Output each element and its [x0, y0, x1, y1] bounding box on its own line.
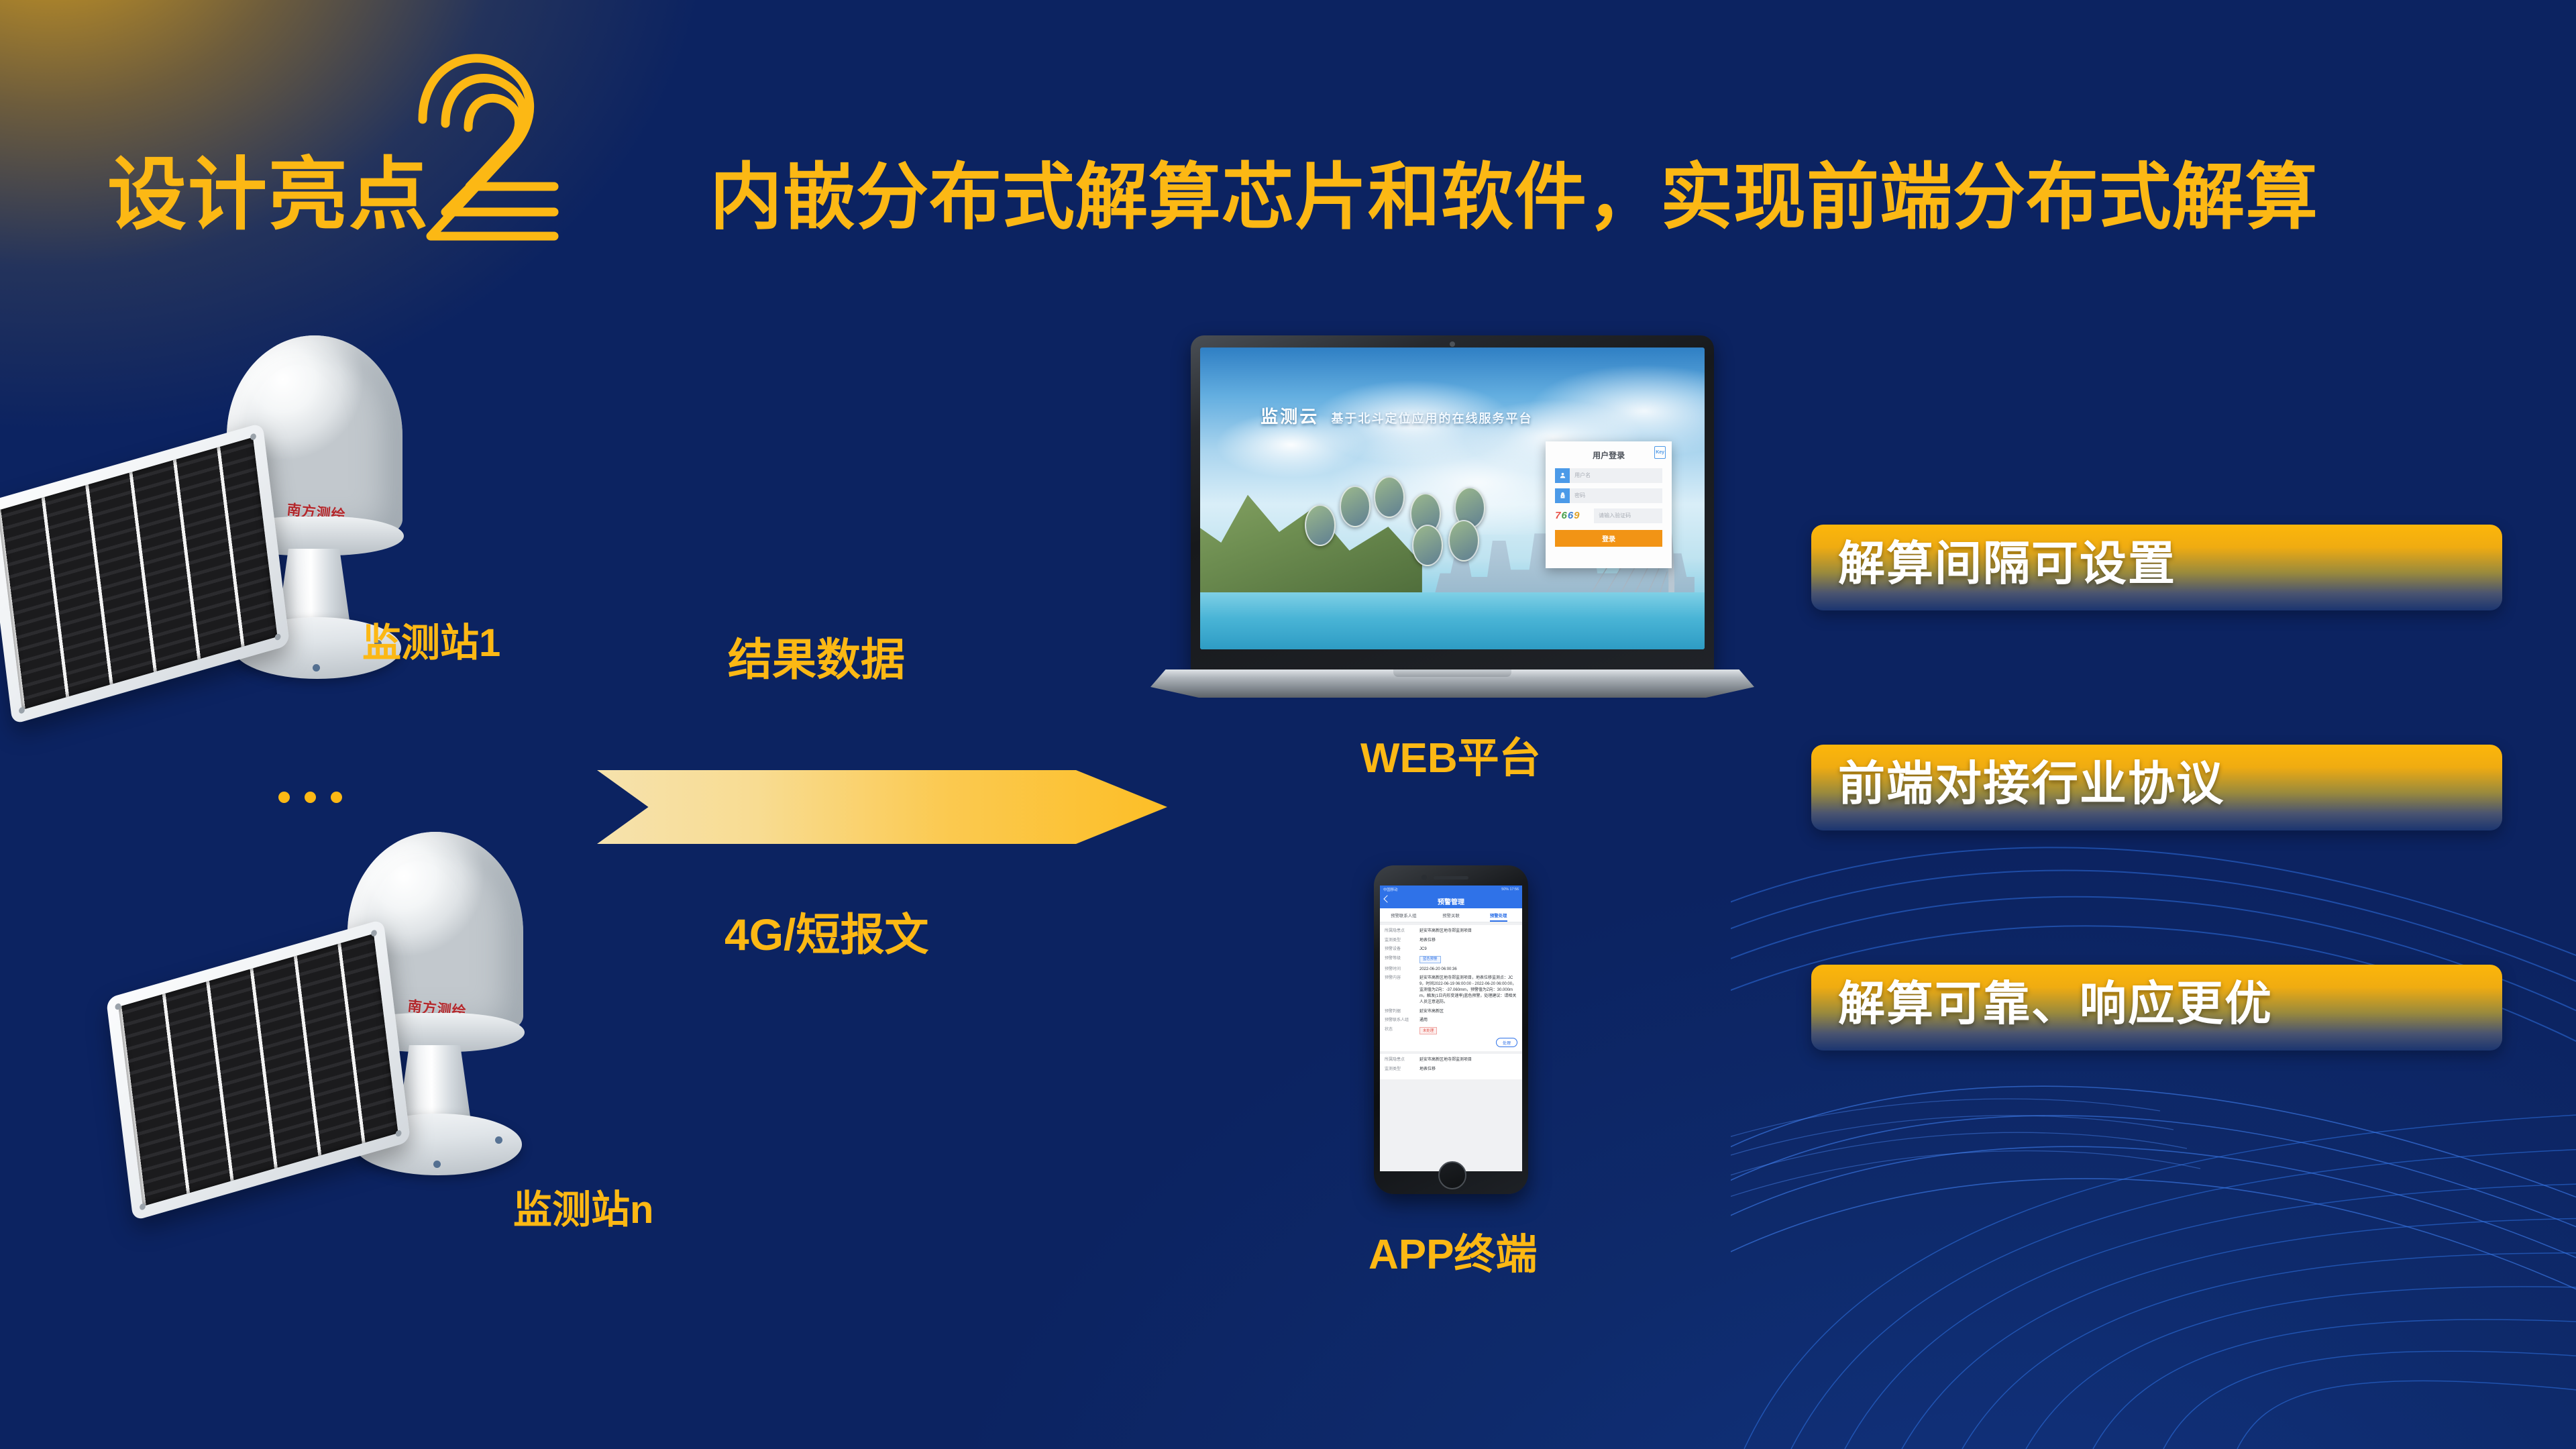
gnss-station-n: 南方测绘 让测绘更有价值 — [114, 832, 610, 1248]
solar-panel — [106, 919, 411, 1221]
ellipsis-dots — [278, 792, 342, 803]
phone-device: 中国移动 50% 17:56 预警管理 预警联系人组 预警关联 预警处理 所属隐… — [1374, 865, 1528, 1194]
web-brand-subtitle: 基于北斗定位应用的在线服务平台 — [1332, 409, 1533, 427]
back-arrow-icon[interactable] — [1383, 895, 1391, 902]
login-submit-button[interactable]: 登录 — [1555, 530, 1662, 547]
alarm-record-card: 所属隐患点延安市高新区地寺郑监测项目 监测类型地表位移 预警设备JC9 预警等级… — [1380, 925, 1522, 1051]
captcha-input[interactable]: 请输入验证码 — [1594, 508, 1662, 523]
table-row: 预警设备JC9 — [1385, 947, 1517, 953]
login-title: 用户登录 — [1555, 449, 1662, 461]
status-right: 50% 17:56 — [1501, 888, 1519, 892]
web-platform-screen: 监测云 基于北斗定位应用的在线服务平台 Key 用户登录 — [1200, 347, 1705, 649]
table-row: 预警等级蓝色预警 — [1385, 956, 1517, 964]
station-n-label: 监测站n — [513, 1191, 653, 1230]
captcha-row[interactable]: 7669 请输入验证码 — [1555, 508, 1662, 523]
captcha-image[interactable]: 7669 — [1555, 510, 1590, 521]
webcam-icon — [1450, 341, 1455, 347]
phone-camera-icon — [1421, 875, 1427, 880]
slide-canvas: 设计亮点 内嵌分布式解算芯片和软件，实现前端分布式解算 南方测绘 让测绘更有价值 — [0, 0, 2576, 1449]
password-placeholder: 密码 — [1570, 492, 1585, 499]
table-row: 预警联系人组通用 — [1385, 1018, 1517, 1024]
app-terminal-label: APP终端 — [1368, 1234, 1537, 1276]
username-field[interactable]: 用户名 — [1555, 468, 1662, 483]
password-field[interactable]: 密码 — [1555, 488, 1662, 503]
feature-badge-1-label: 解算间隔可设置 — [1811, 540, 2176, 587]
app-nav-bar: 预警管理 — [1380, 894, 1522, 908]
table-row: 预警判据延安市高新区 — [1385, 1009, 1517, 1015]
decorative-swirl-lines — [1731, 738, 2576, 1449]
slide-number-2-icon — [411, 40, 585, 262]
feature-badge-3-label: 解算可靠、响应更优 — [1811, 980, 2273, 1027]
table-row: 所属隐患点延安市高新区地寺郑监测项目 — [1385, 928, 1517, 934]
feature-thumbnails — [1301, 468, 1503, 547]
table-row: 预警时间2022-06-20 06:00:36 — [1385, 967, 1517, 973]
gnss-station-1: 南方测绘 让测绘更有价值 — [0, 335, 490, 751]
status-badge: 未处理 — [1419, 1027, 1437, 1035]
web-platform-label: WEB平台 — [1360, 738, 1541, 780]
feature-badge-1: 解算间隔可设置 — [1811, 525, 2502, 610]
key-icon: Key — [1654, 446, 1666, 459]
table-row: 预警内容延安市高新区地寺郑监测项目，地表位移监测点：JC9，时间2022-06-… — [1385, 975, 1517, 1006]
flow-label-transport: 4G/短报文 — [724, 912, 928, 957]
home-button[interactable] — [1438, 1161, 1466, 1189]
app-screen: 中国移动 50% 17:56 预警管理 预警联系人组 预警关联 预警处理 所属隐… — [1380, 885, 1522, 1171]
slide-kicker: 设计亮点 — [107, 156, 429, 235]
app-tab-bar: 预警联系人组 预警关联 预警处理 — [1380, 908, 1522, 922]
table-row: 监测类型地表位移 — [1385, 1067, 1517, 1073]
flow-arrow — [597, 770, 1167, 844]
table-row: 监测类型地表位移 — [1385, 938, 1517, 944]
phone-speaker — [1434, 876, 1468, 879]
table-row: 所属隐患点延安市高新区地寺郑监测项目 — [1385, 1057, 1517, 1063]
app-content[interactable]: 所属隐患点延安市高新区地寺郑监测项目 监测类型地表位移 预警设备JC9 预警等级… — [1380, 922, 1522, 1171]
laptop-lid: 监测云 基于北斗定位应用的在线服务平台 Key 用户登录 — [1191, 335, 1714, 672]
slide-headline: 内嵌分布式解算芯片和软件，实现前端分布式解算 — [710, 161, 2318, 233]
tab-alarm-relation[interactable]: 预警关联 — [1428, 912, 1475, 918]
laptop-device: 监测云 基于北斗定位应用的在线服务平台 Key 用户登录 — [1150, 335, 1754, 724]
feature-badge-2-label: 前端对接行业协议 — [1811, 760, 2224, 807]
web-brand: 监测云 — [1260, 403, 1319, 428]
solar-panel — [0, 423, 290, 724]
water-graphic — [1200, 592, 1705, 650]
phone-status-bar: 中国移动 50% 17:56 — [1380, 885, 1522, 894]
tab-contact-group[interactable]: 预警联系人组 — [1380, 912, 1428, 918]
user-icon — [1555, 468, 1570, 483]
status-badge: 蓝色预警 — [1419, 956, 1441, 964]
alarm-record-card: 所属隐患点延安市高新区地寺郑监测项目 监测类型地表位移 — [1380, 1054, 1522, 1079]
username-placeholder: 用户名 — [1570, 472, 1591, 479]
lock-icon — [1555, 488, 1570, 503]
solar-cells — [0, 437, 278, 710]
table-row: 状态未处理 — [1385, 1027, 1517, 1035]
feature-badge-2: 前端对接行业协议 — [1811, 745, 2502, 830]
status-left: 中国移动 — [1383, 887, 1398, 892]
login-card: Key 用户登录 用户名 密码 — [1546, 441, 1672, 568]
station-1-label: 监测站1 — [362, 624, 500, 663]
handle-button[interactable]: 处理 — [1496, 1038, 1517, 1047]
app-nav-title: 预警管理 — [1438, 896, 1464, 906]
feature-badge-3: 解算可靠、响应更优 — [1811, 965, 2502, 1051]
flow-label-result-data: 结果数据 — [728, 637, 905, 682]
tab-alarm-handling[interactable]: 预警处理 — [1474, 912, 1522, 918]
solar-cells — [118, 934, 398, 1207]
laptop-base-notch — [1393, 669, 1511, 677]
